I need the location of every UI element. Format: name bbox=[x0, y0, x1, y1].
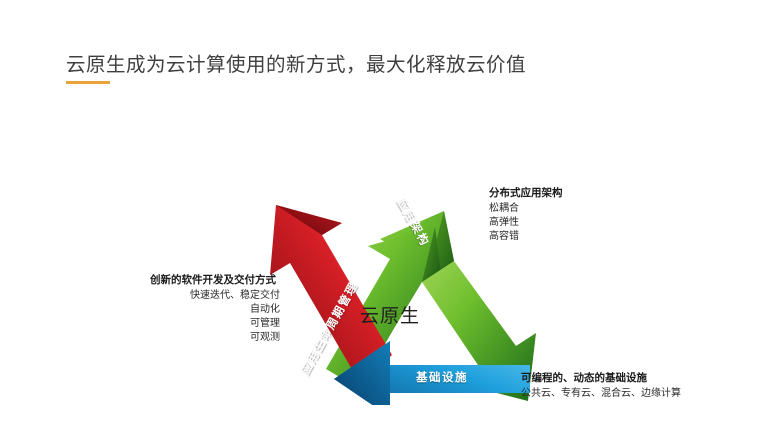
callout-line: 松耦合 bbox=[489, 202, 563, 216]
callout-line: 自动化 bbox=[150, 303, 280, 317]
callout-heading: 分布式应用架构 bbox=[489, 185, 563, 200]
callout-heading: 可编程的、动态的基础设施 bbox=[521, 370, 681, 385]
callout-line: 可观测 bbox=[150, 331, 280, 345]
callout-line: 可管理 bbox=[150, 317, 280, 331]
callout-line: 快速迭代、稳定交付 bbox=[150, 289, 280, 303]
callout-application-architecture: 分布式应用架构 松耦合 高弹性 高容错 bbox=[489, 185, 563, 244]
callout-infrastructure: 可编程的、动态的基础设施 公共云、专有云、混合云、边缘计算 bbox=[521, 370, 681, 401]
callout-line: 公共云、专有云、混合云、边缘计算 bbox=[521, 387, 681, 401]
callout-line: 高弹性 bbox=[489, 216, 563, 230]
arrow-label-infrastructure: 基础设施 bbox=[416, 369, 468, 385]
center-label-cloud-native: 云原生 bbox=[360, 301, 420, 328]
callout-development-delivery: 创新的软件开发及交付方式 快速迭代、稳定交付 自动化 可管理 可观测 bbox=[150, 272, 280, 345]
cloud-native-cycle-diagram: 应用架构 应用生命周期管理 基础设施 云原生 分布式应用架构 松耦合 高弹性 高… bbox=[0, 0, 767, 444]
callout-heading: 创新的软件开发及交付方式 bbox=[150, 272, 280, 287]
callout-line: 高容错 bbox=[489, 230, 563, 244]
